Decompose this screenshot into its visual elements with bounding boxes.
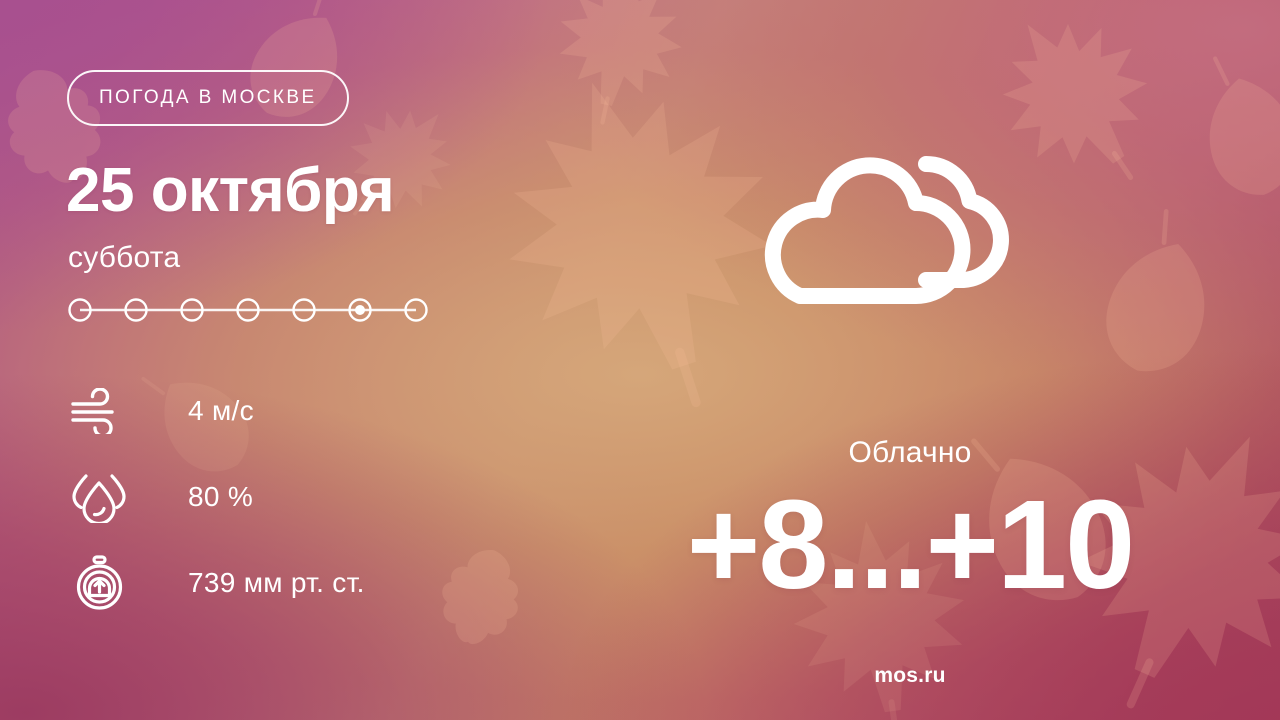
stat-value-pressure: 739 мм рт. ст. <box>188 567 365 599</box>
week-progress-indicator <box>68 296 428 324</box>
stat-value-wind: 4 м/с <box>188 395 254 427</box>
stat-row-pressure: 739 мм рт. ст. <box>70 540 510 626</box>
cloudy-icon <box>730 128 1060 358</box>
city-badge: ПОГОДА В МОСКВЕ <box>67 70 349 126</box>
weather-stats-list: 4 м/с 80 % <box>70 368 510 626</box>
date-day-month: 25 октября <box>66 160 394 222</box>
stat-row-humidity: 80 % <box>70 454 510 540</box>
site-footer: mos.ru <box>540 664 1280 688</box>
pressure-icon <box>70 555 138 611</box>
wind-icon <box>70 388 138 434</box>
stat-row-wind: 4 м/с <box>70 368 510 454</box>
temperature-range: +8...+10 <box>540 482 1280 608</box>
weather-condition-label: Облачно <box>540 436 1280 470</box>
weather-card: ПОГОДА В МОСКВЕ 25 октября суббота <box>0 0 1280 720</box>
forecast-column: Облачно +8...+10 mos.ru <box>540 0 1280 720</box>
info-column: ПОГОДА В МОСКВЕ 25 октября суббота <box>66 0 536 720</box>
date-weekday: суббота <box>68 243 180 273</box>
stat-value-humidity: 80 % <box>188 481 253 513</box>
humidity-icon <box>70 471 138 523</box>
